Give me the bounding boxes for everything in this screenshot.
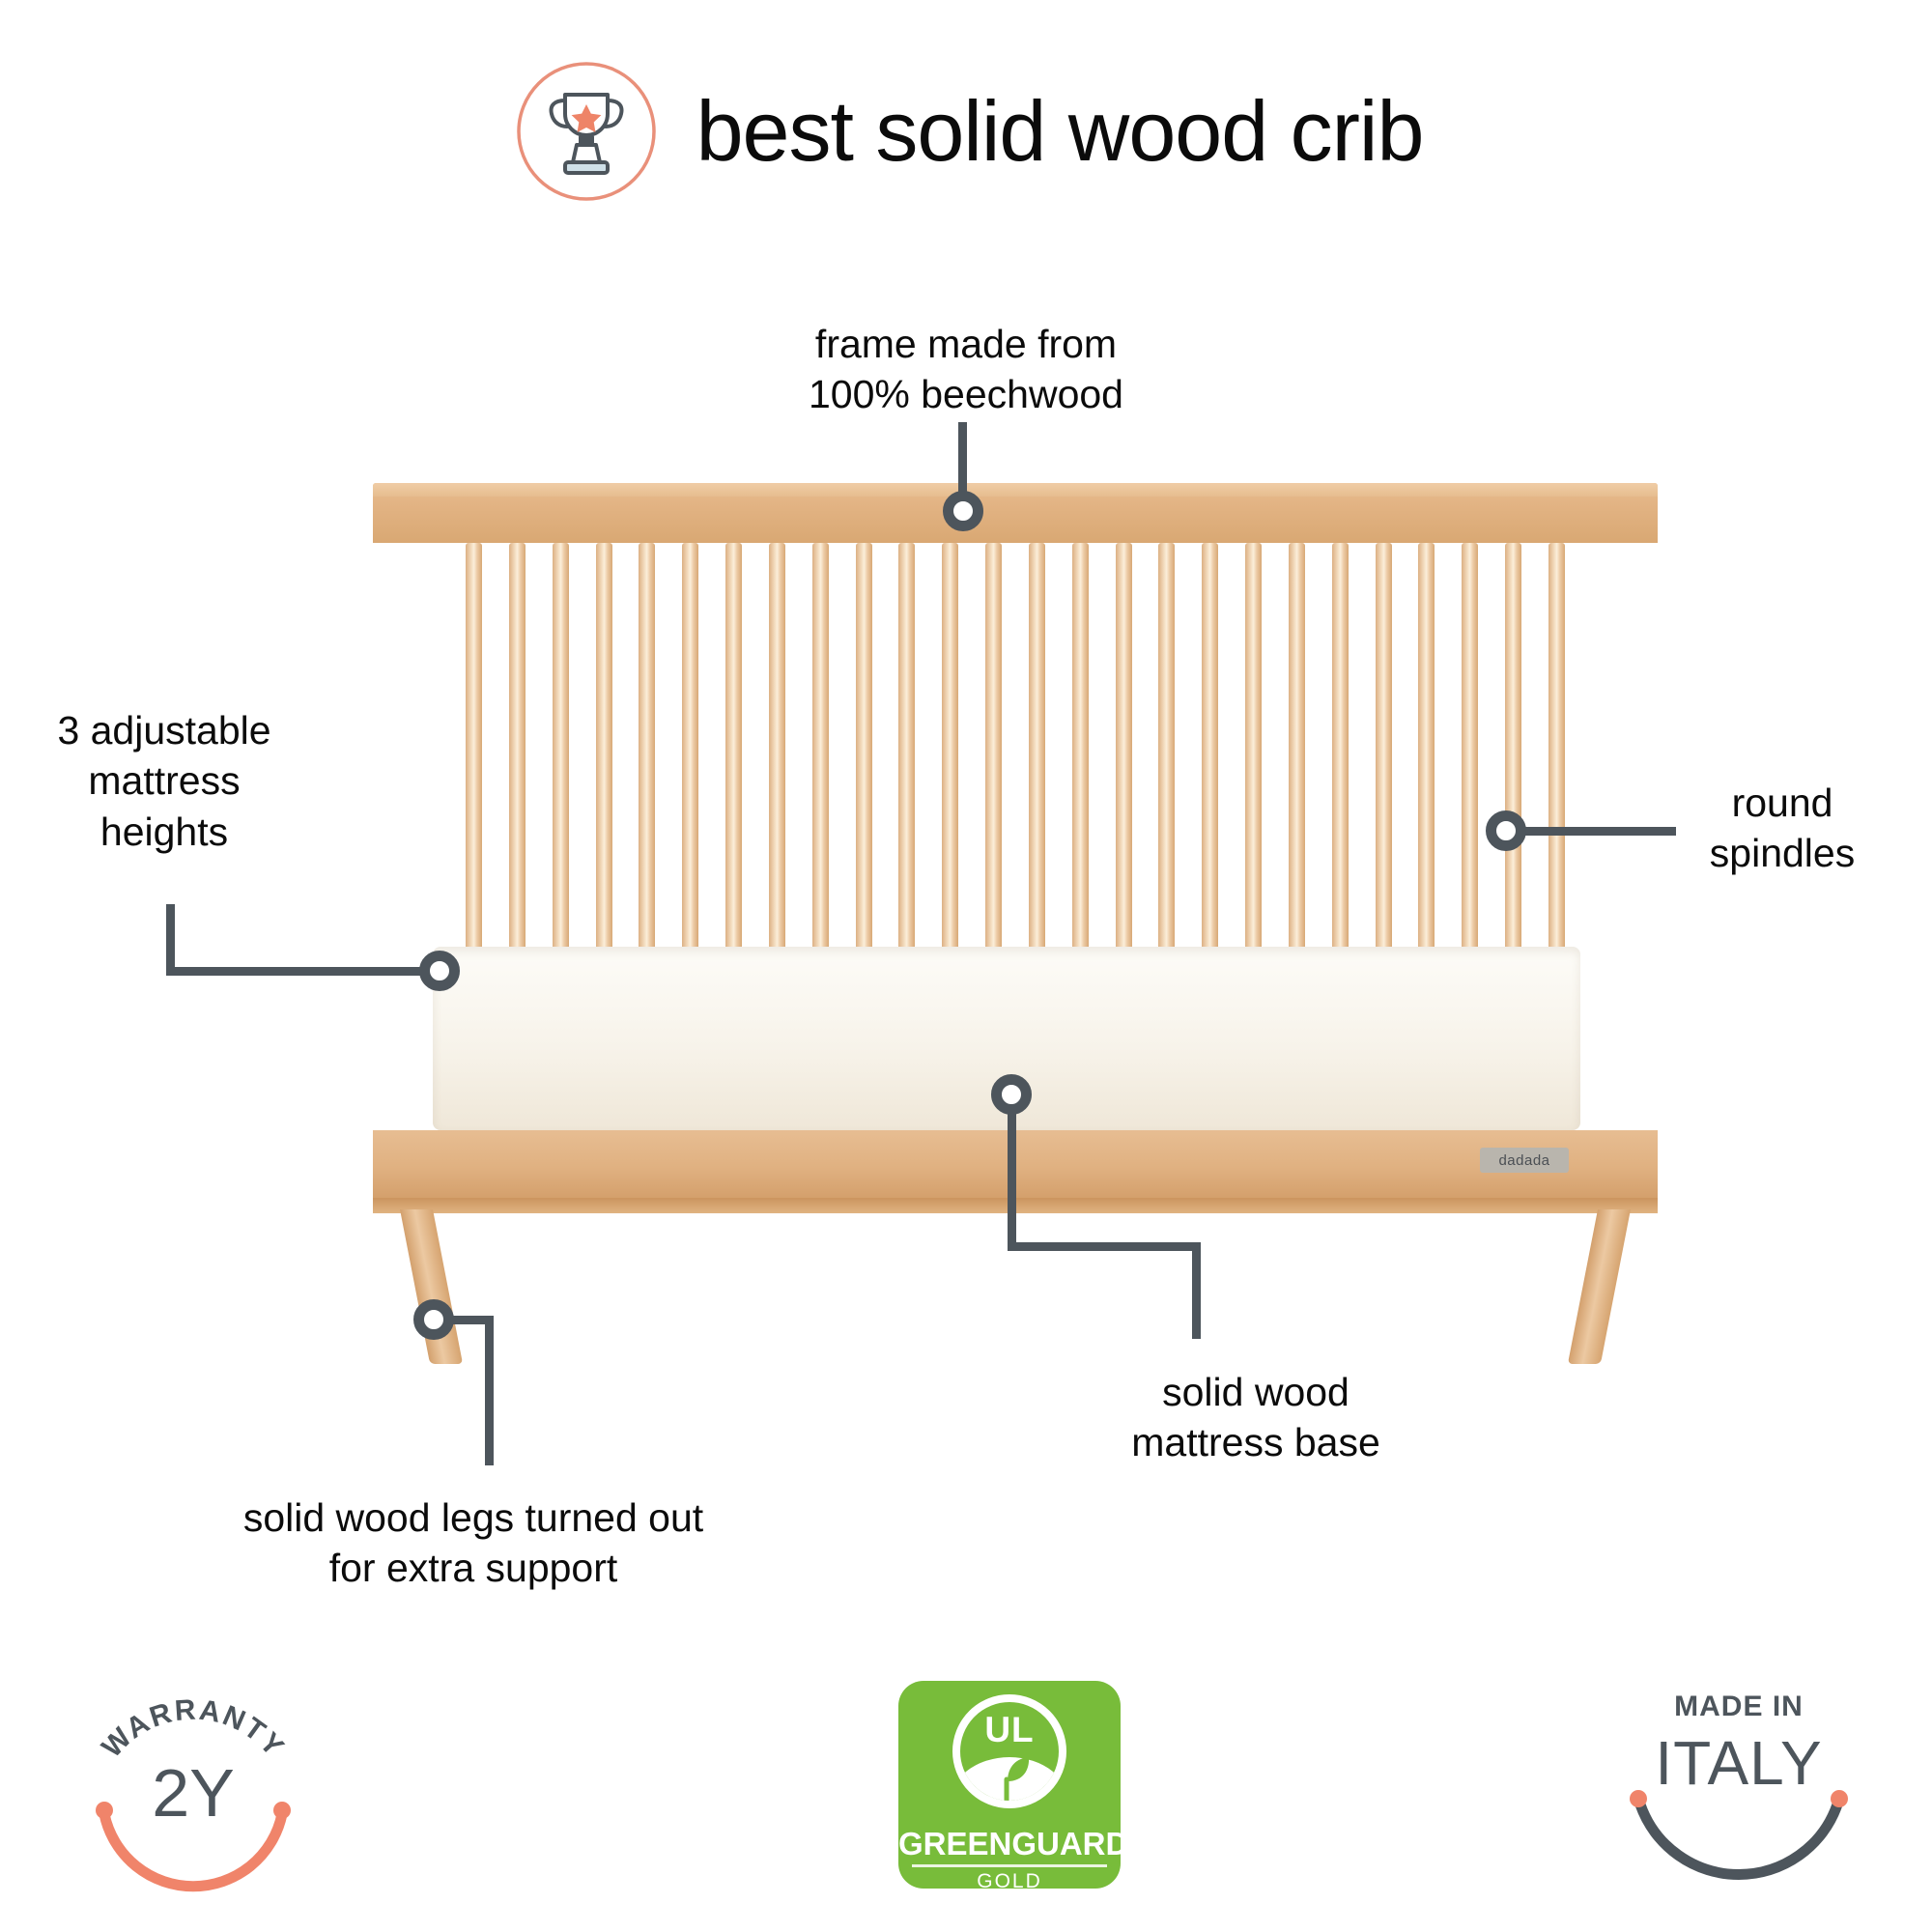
callout-frame-leader-line — [958, 422, 967, 499]
callout-mattress-heights-leader-horizontal — [166, 967, 427, 976]
callout-mattress-base-text: solid wood mattress base — [1063, 1367, 1449, 1468]
warranty-value: 2Y — [68, 1754, 319, 1832]
callout-frame-text: frame made from 100% beechwood — [773, 319, 1159, 420]
certification-badges: WARRANTY 2Y UL GREENGUARD GOLD MADE IN — [0, 1681, 1932, 1932]
callout-spindles-leader-line — [1507, 827, 1676, 836]
greenguard-card: UL GREENGUARD GOLD — [898, 1681, 1121, 1889]
warranty-badge: WARRANTY 2Y — [68, 1690, 319, 1913]
callout-legs-text: solid wood legs turned out for extra sup… — [193, 1492, 753, 1594]
callout-mattress-heights-leader-vertical — [166, 904, 175, 976]
greenguard-name: GREENGUARD — [898, 1826, 1121, 1862]
crib-left-leg — [400, 1209, 463, 1364]
brand-logo-plate: dadada — [1480, 1148, 1569, 1173]
callout-frame-marker — [943, 491, 983, 531]
brand-logo-text: dadada — [1498, 1152, 1549, 1169]
crib-right-leg — [1568, 1209, 1631, 1364]
callout-legs-leader-vertical — [485, 1316, 494, 1465]
callout-spindles-marker — [1486, 810, 1526, 851]
callout-mattress-heights-text: 3 adjustable mattress heights — [19, 705, 309, 857]
header: best solid wood crib — [0, 44, 1932, 218]
callout-spindles-text: round spindles — [1642, 778, 1922, 879]
greenguard-divider — [912, 1864, 1107, 1867]
callout-mattress-base-marker — [991, 1074, 1032, 1115]
made-in-italy-badge: MADE IN ITALY — [1594, 1690, 1884, 1913]
crib-top-rail-highlight — [373, 483, 1658, 497]
callout-legs-marker — [413, 1299, 454, 1340]
trophy-icon — [509, 54, 664, 209]
callout-mattress-heights-marker — [419, 951, 460, 991]
callout-mattress-base-leader-drop — [1192, 1242, 1201, 1339]
greenguard-badge: UL GREENGUARD GOLD — [898, 1681, 1130, 1922]
greenguard-level: GOLD — [898, 1870, 1121, 1889]
ul-mark: UL — [960, 1712, 1059, 1747]
callout-mattress-base-leader-vertical — [1008, 1111, 1016, 1251]
ul-leaf-icon: UL — [952, 1694, 1066, 1808]
page-title: best solid wood crib — [696, 89, 1424, 174]
callout-mattress-base-leader-horizontal — [1008, 1242, 1201, 1251]
